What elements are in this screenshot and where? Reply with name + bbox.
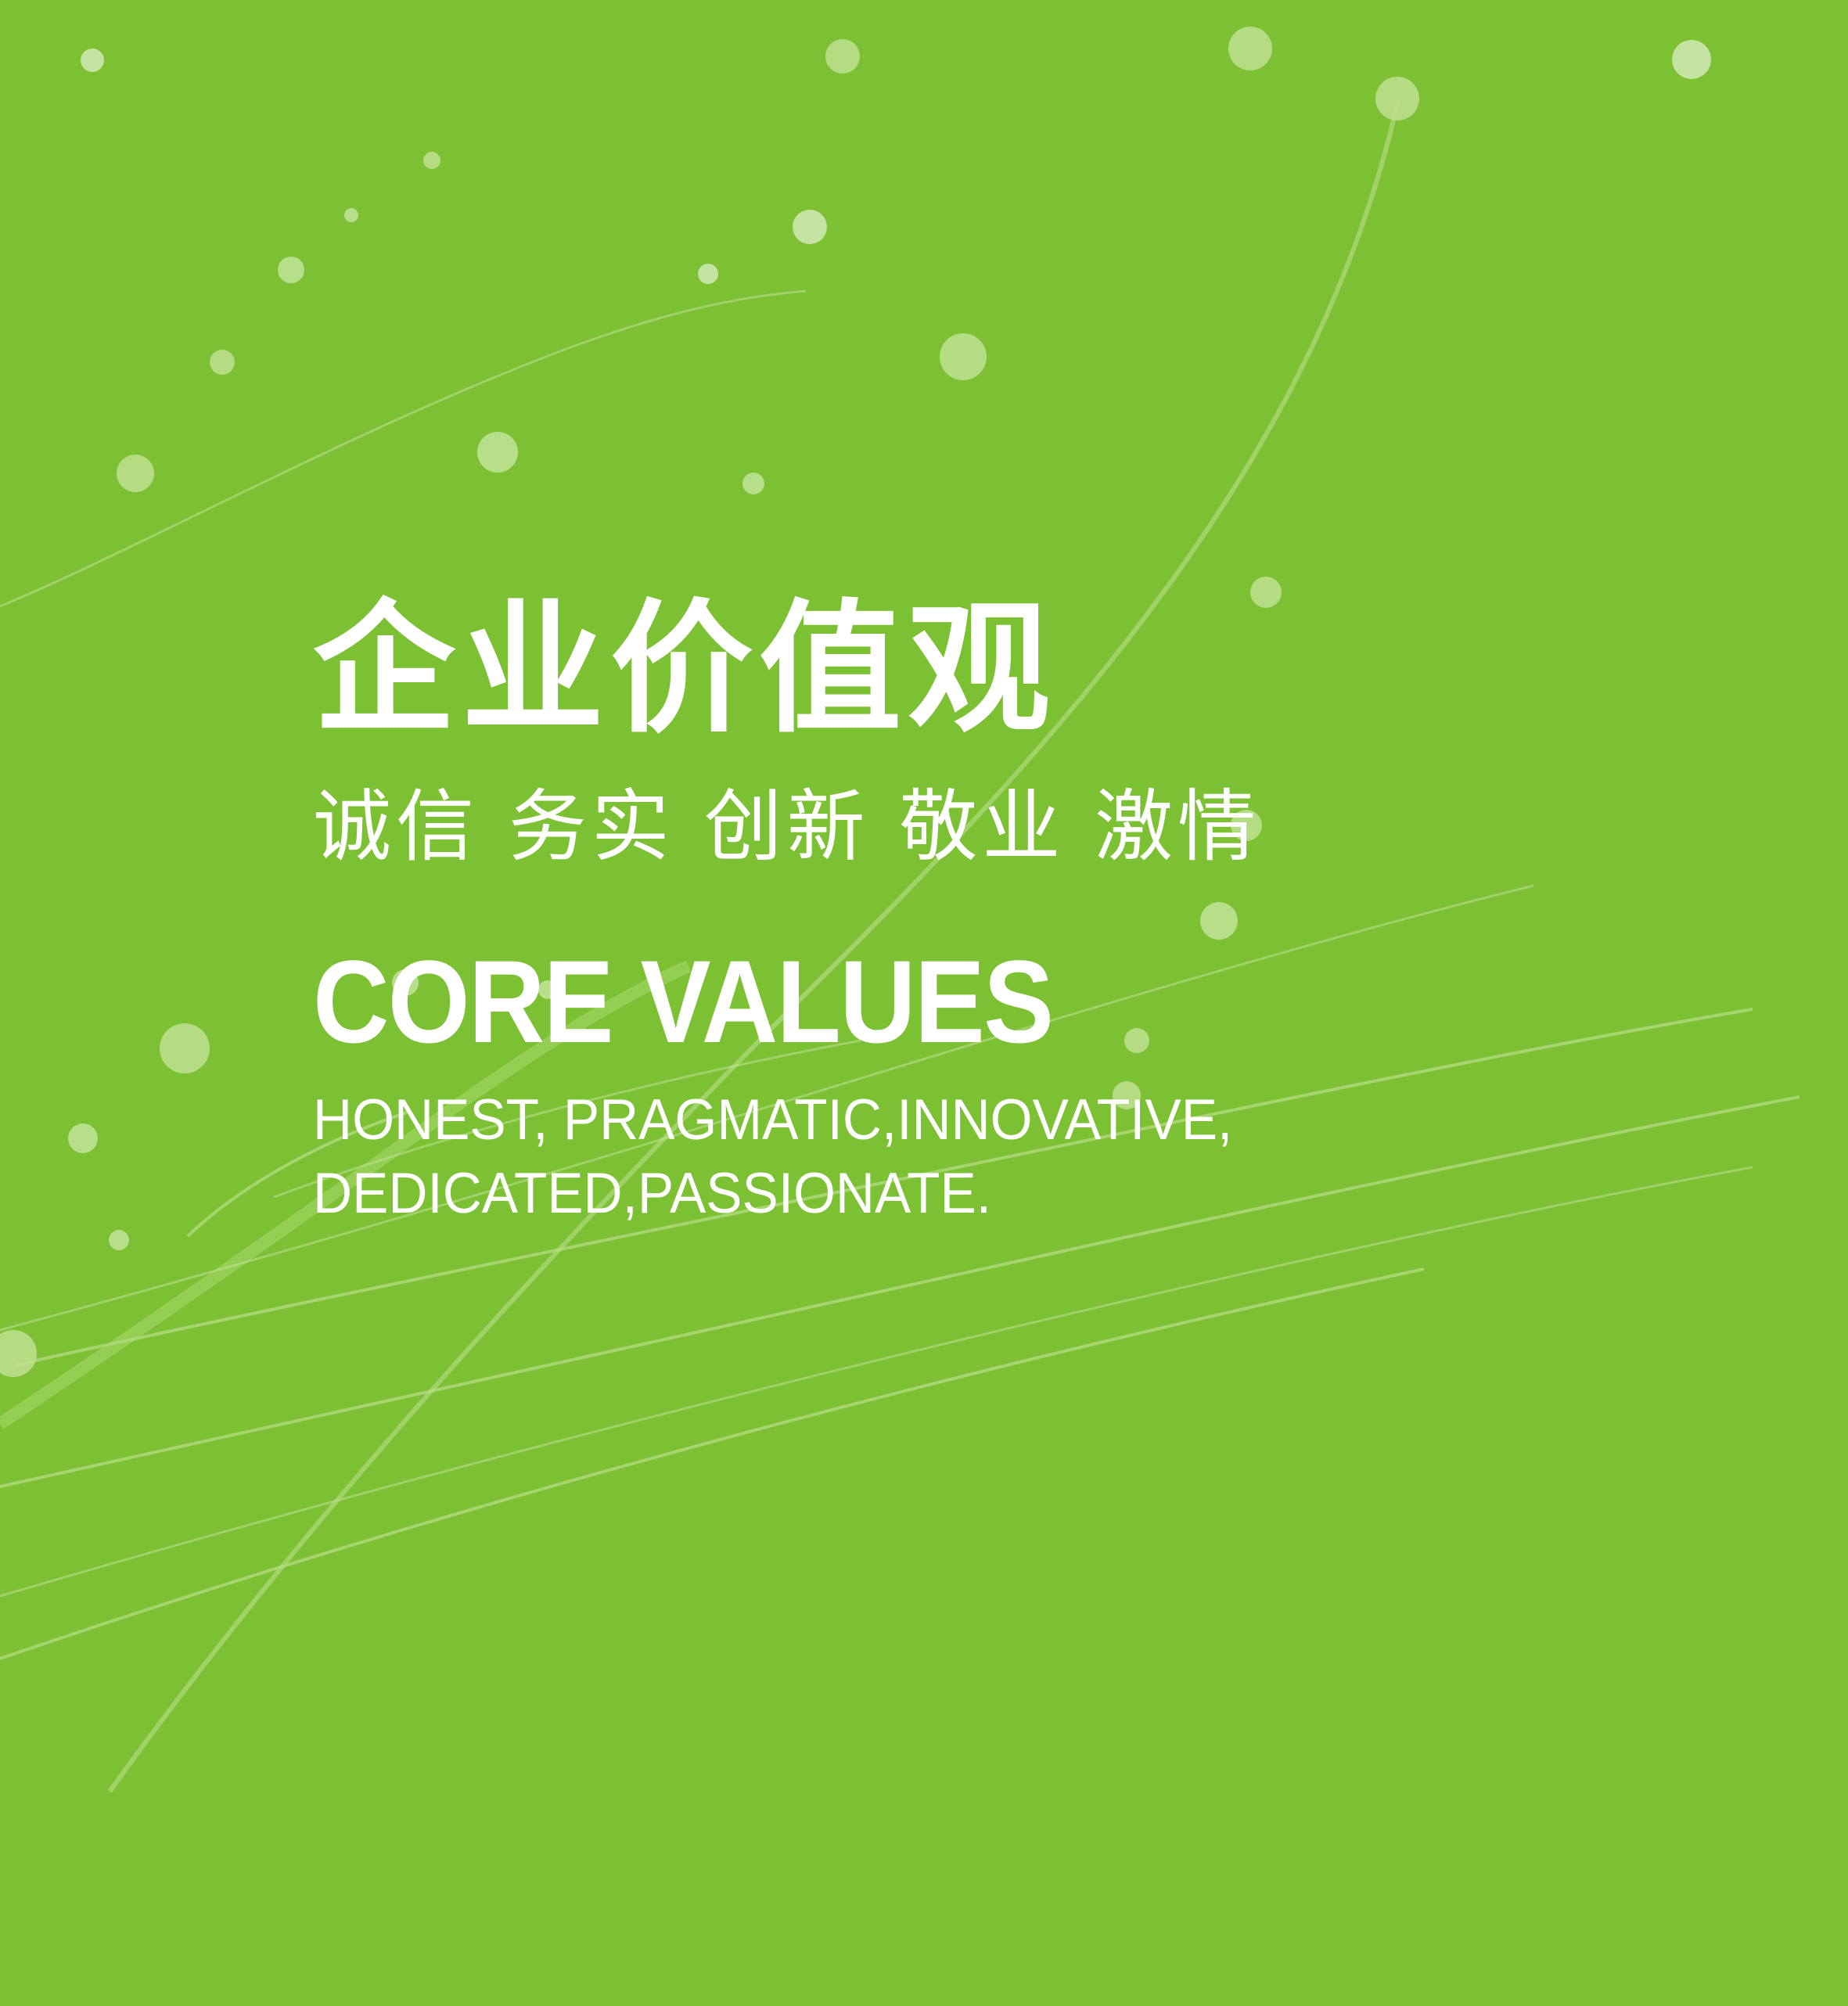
values-list-english: HONEST, PRAGMATIC,INNOVATIVE, DEDICATED,… xyxy=(313,1084,1651,1230)
page-title-english: CORE VALUES xyxy=(313,943,1580,1060)
values-list-english-line-2: DEDICATED,PASSIONATE. xyxy=(313,1157,1651,1230)
headline-block: 企业价值观 诚信 务实 创新 敬业 激情 CORE VALUES HONEST,… xyxy=(313,595,1721,1230)
page-title-chinese: 企业价值观 xyxy=(313,595,1721,744)
values-list-english-line-1: HONEST, PRAGMATIC,INNOVATIVE, xyxy=(313,1084,1651,1156)
poster-canvas: .ln { fill:none; stroke:#b6dd84; stroke-… xyxy=(0,0,1848,2006)
values-list-chinese: 诚信 务实 创新 敬业 激情 xyxy=(313,780,1721,874)
